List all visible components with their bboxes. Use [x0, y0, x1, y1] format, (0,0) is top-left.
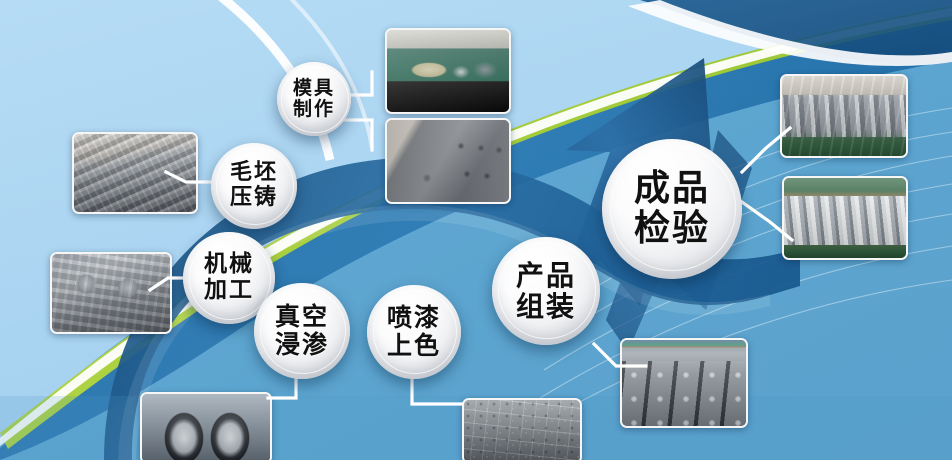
photo-burners	[620, 338, 748, 428]
step-label-machining-line1: 机械	[204, 252, 254, 278]
step-label-inspection-line2: 检验	[634, 209, 710, 249]
photo-grid-panel	[462, 398, 582, 460]
photo-profiles-rack	[780, 74, 908, 158]
process-flow-poster: 模具 制作 毛坯 压铸 机械 加工 真空 浸渗 喷漆 上色 产品 组装 成品 检…	[0, 0, 952, 460]
step-label-vacuum-line2: 浸渗	[275, 331, 329, 359]
photo-mold-die	[385, 118, 511, 204]
step-label-inspection-line1: 成品	[634, 169, 710, 209]
step-label-assembly-line1: 产品	[516, 260, 576, 291]
step-bubble-assembly[interactable]: 产品 组装	[492, 237, 600, 345]
step-bubble-painting[interactable]: 喷漆 上色	[367, 285, 461, 379]
step-label-painting-line1: 喷漆	[387, 304, 441, 332]
step-label-painting-line2: 上色	[387, 332, 441, 360]
photo-polished-bars	[782, 176, 908, 260]
photo-wheels	[140, 392, 272, 460]
step-label-vacuum-line1: 真空	[275, 303, 329, 331]
step-bubble-mold[interactable]: 模具 制作	[277, 62, 351, 136]
step-bubble-inspection[interactable]: 成品 检验	[602, 139, 742, 279]
step-label-mold-line1: 模具	[293, 78, 335, 99]
step-bubble-blank[interactable]: 毛坯 压铸	[211, 143, 297, 229]
photo-machined-parts	[50, 252, 172, 334]
photo-mold-cad	[385, 28, 511, 114]
step-label-assembly-line2: 组装	[516, 291, 576, 322]
step-label-machining-line2: 加工	[204, 278, 254, 304]
step-label-blank-line2: 压铸	[230, 186, 278, 211]
step-label-blank-line1: 毛坯	[230, 161, 278, 186]
photo-castings-rack	[72, 132, 198, 214]
step-bubble-vacuum[interactable]: 真空 浸渗	[254, 283, 350, 379]
step-label-mold-line2: 制作	[293, 99, 335, 120]
